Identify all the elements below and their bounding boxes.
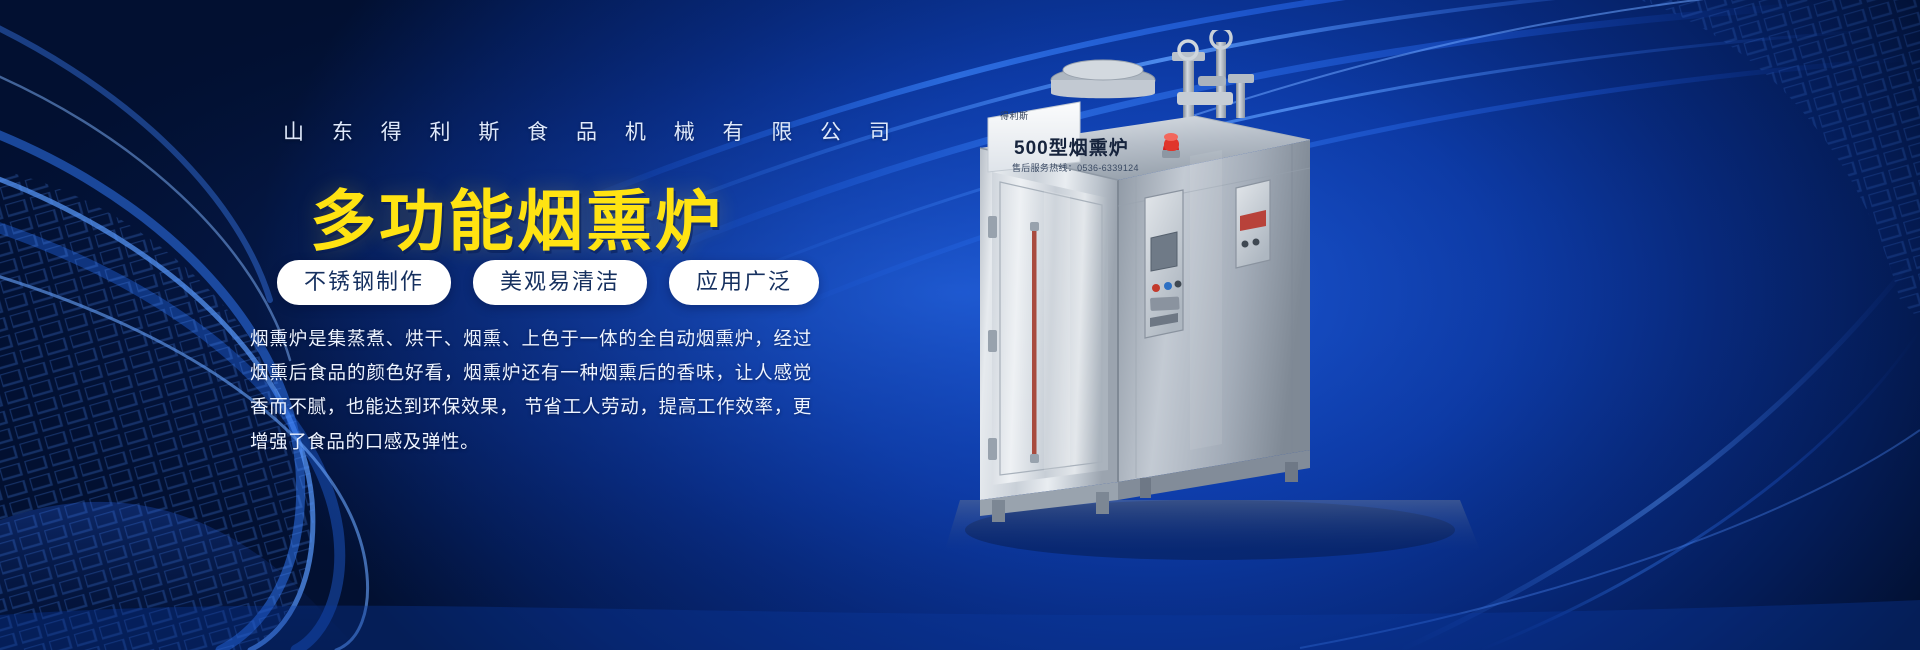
feature-pill-list: 不锈钢制作 美观易清洁 应用广泛 (277, 260, 819, 305)
banner-text-column: 山 东 得 利 斯 食 品 机 械 有 限 公 司 多功能烟熏炉 不锈钢制作 美… (0, 0, 860, 650)
feature-pill-1[interactable]: 不锈钢制作 (277, 260, 451, 305)
page-title: 多功能烟熏炉 (310, 168, 724, 264)
machine-model-label: 500型烟熏炉 (1014, 133, 1129, 160)
product-description: 烟熏炉是集蒸煮、烘干、烟熏、上色于一体的全自动烟熏炉，经过烟熏后食品的颜色好看，… (250, 322, 812, 459)
feature-pill-2[interactable]: 美观易清洁 (473, 260, 647, 305)
promo-banner: 山 东 得 利 斯 食 品 机 械 有 限 公 司 多功能烟熏炉 不锈钢制作 美… (0, 0, 1920, 650)
feature-pill-3[interactable]: 应用广泛 (669, 260, 819, 305)
machine-hotline-label: 售后服务热线：0536-6339124 (1012, 161, 1139, 174)
machine-brand-mark: 得利斯 (1000, 109, 1029, 122)
company-name: 山 东 得 利 斯 食 品 机 械 有 限 公 司 (283, 116, 901, 146)
